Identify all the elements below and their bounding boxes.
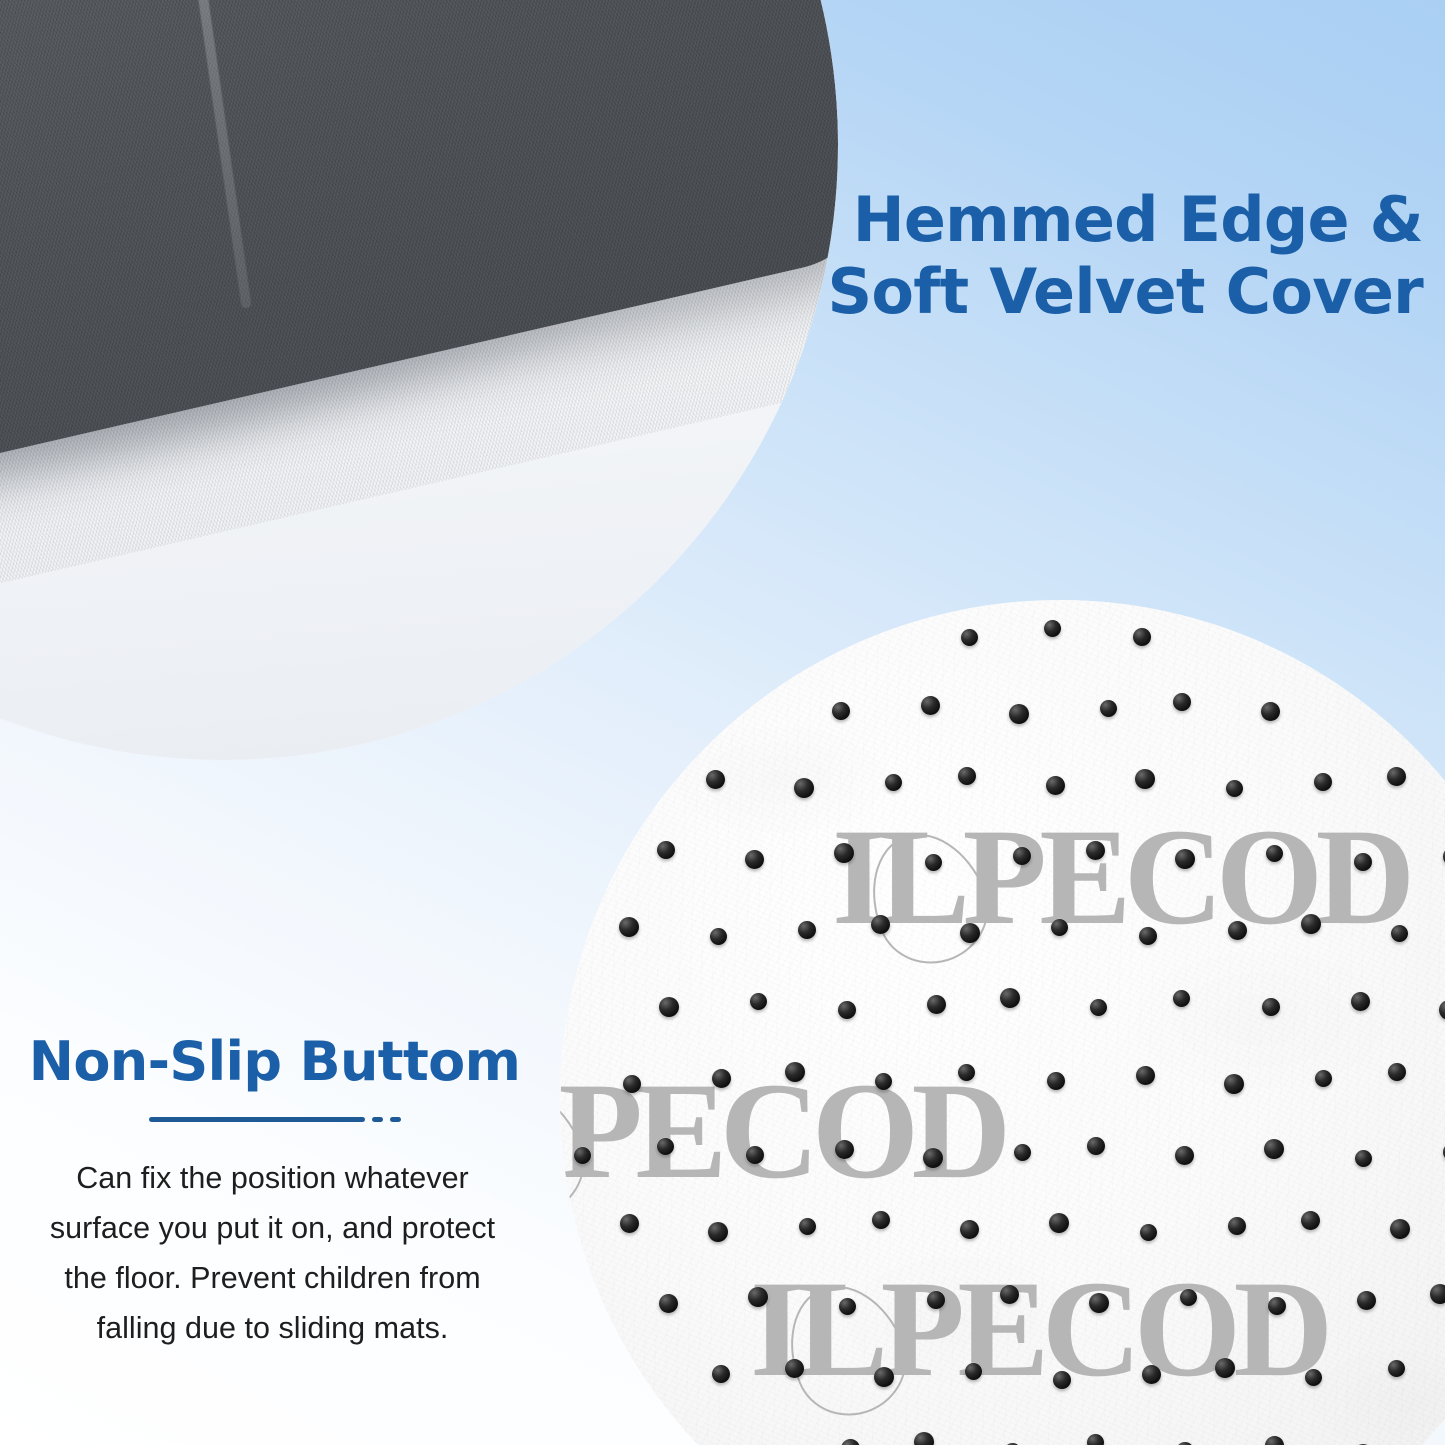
- grip-dot: [1301, 1211, 1320, 1230]
- divider-line: [149, 1117, 365, 1122]
- grip-dot: [1000, 1285, 1019, 1304]
- grip-dot: [1215, 1358, 1235, 1378]
- grip-dot: [1228, 921, 1247, 940]
- grip-dot: [914, 1432, 934, 1445]
- grip-dot: [1226, 780, 1243, 797]
- grip-dot: [1046, 776, 1065, 795]
- grip-dot: [1087, 1434, 1104, 1445]
- grip-dot: [1305, 1369, 1322, 1386]
- grip-dot: [1391, 925, 1408, 942]
- headline-line-1: Hemmed Edge &: [827, 184, 1423, 256]
- grip-dot: [574, 1147, 591, 1164]
- grip-dot: [874, 1367, 894, 1387]
- grip-dot: [965, 1363, 982, 1380]
- grip-dot: [799, 1218, 816, 1235]
- grip-dot: [1357, 1291, 1376, 1310]
- title-divider: [4, 1117, 545, 1122]
- nonslip-bottom-photo: ILPECOD ILPECOD ILPECOD: [560, 600, 1445, 1445]
- grip-dot: [1265, 1436, 1284, 1445]
- grip-dot: [1009, 704, 1029, 724]
- grip-dot: [659, 1294, 678, 1313]
- grip-dot: [1354, 853, 1372, 871]
- grip-dot: [785, 1062, 805, 1082]
- grip-dot: [1139, 927, 1157, 945]
- grip-dot: [871, 915, 890, 934]
- grip-dot: [1090, 999, 1107, 1016]
- grip-dot: [1268, 1297, 1286, 1315]
- grip-dot: [1044, 620, 1061, 637]
- grip-dot: [925, 854, 942, 871]
- grip-dot: [708, 1222, 728, 1242]
- grip-dot: [1351, 992, 1370, 1011]
- divider-dash: [372, 1117, 383, 1122]
- grip-dot: [706, 770, 725, 789]
- grip-dot: [1262, 998, 1280, 1016]
- grip-dot: [1087, 1137, 1105, 1155]
- grip-dot: [1261, 702, 1280, 721]
- grip-dot: [961, 629, 978, 646]
- grip-dot: [1142, 1365, 1161, 1384]
- grip-dot: [745, 850, 764, 869]
- headline: Hemmed Edge & Soft Velvet Cover: [827, 184, 1423, 328]
- grip-dot: [838, 1001, 856, 1019]
- grip-dot: [1100, 700, 1117, 717]
- grip-dot: [1264, 1139, 1284, 1159]
- grip-dot: [1049, 1213, 1069, 1233]
- grip-dot: [1000, 988, 1020, 1008]
- grip-dot: [885, 774, 902, 791]
- grip-dot: [1051, 919, 1068, 936]
- grip-dot: [1047, 1072, 1065, 1090]
- grip-dot: [712, 1069, 731, 1088]
- grip-dot: [835, 1140, 854, 1159]
- grip-dot: [1388, 1360, 1405, 1377]
- grip-dot: [798, 921, 816, 939]
- grip-dot: [1355, 1150, 1372, 1167]
- grip-dot-grid: [560, 600, 1445, 1445]
- grip-dot: [794, 778, 814, 798]
- grip-dot: [1140, 1224, 1157, 1241]
- grip-dot: [923, 1148, 943, 1168]
- grip-dot: [1014, 1144, 1031, 1161]
- grip-dot: [1136, 1066, 1155, 1085]
- grip-dot: [872, 1211, 890, 1229]
- nonslip-feature-block: Non-Slip Buttom Can fix the position wha…: [0, 1032, 545, 1353]
- grip-dot: [960, 1220, 979, 1239]
- grip-dot: [1053, 1371, 1071, 1389]
- grip-dot: [712, 1365, 730, 1383]
- grip-dot: [875, 1073, 892, 1090]
- divider-dash: [390, 1117, 401, 1122]
- grip-dot: [839, 1298, 856, 1315]
- nonslip-title: Non-Slip Buttom: [4, 1032, 545, 1091]
- grip-dot: [841, 1439, 860, 1445]
- grip-dot: [748, 1287, 768, 1307]
- grip-dot: [710, 928, 727, 945]
- grip-dot: [1086, 841, 1105, 860]
- grip-dot: [927, 1291, 945, 1309]
- grip-dot: [619, 917, 639, 937]
- grip-dot: [657, 1138, 674, 1155]
- grip-dot: [1228, 1217, 1246, 1235]
- grip-dot: [1390, 1219, 1410, 1239]
- grip-dot: [1135, 769, 1155, 789]
- grip-dot: [657, 841, 675, 859]
- grip-dot: [1089, 1293, 1109, 1313]
- headline-line-2: Soft Velvet Cover: [827, 256, 1423, 328]
- grip-dot: [1430, 1284, 1445, 1304]
- grip-dot: [785, 1359, 804, 1378]
- nonslip-fabric: ILPECOD ILPECOD ILPECOD: [560, 600, 1445, 1445]
- grip-dot: [1224, 1074, 1244, 1094]
- grip-dot: [1175, 849, 1195, 869]
- grip-dot: [1439, 1000, 1445, 1020]
- grip-dot: [927, 995, 946, 1014]
- grip-dot: [659, 997, 679, 1017]
- grip-dot: [958, 1064, 975, 1081]
- grip-dot: [834, 843, 854, 863]
- grip-dot: [1013, 847, 1031, 865]
- grip-dot: [1301, 914, 1321, 934]
- grip-dot: [1266, 845, 1283, 862]
- grip-dot: [960, 923, 980, 943]
- grip-dot: [1387, 767, 1406, 786]
- grip-dot: [958, 767, 976, 785]
- grip-dot: [620, 1214, 639, 1233]
- grip-dot: [1173, 693, 1191, 711]
- nonslip-description: Can fix the position whatever surface yo…: [28, 1154, 517, 1353]
- grip-dot: [832, 702, 850, 720]
- grip-dot: [1315, 1070, 1332, 1087]
- grip-dot: [746, 1146, 764, 1164]
- grip-dot: [623, 1075, 641, 1093]
- product-feature-graphic: ILPECOD ILPECOD ILPECOD Hemmed Edge & So…: [0, 0, 1445, 1445]
- grip-dot: [1314, 773, 1332, 791]
- grip-dot: [921, 696, 940, 715]
- grip-dot: [1133, 628, 1151, 646]
- grip-dot: [1180, 1289, 1197, 1306]
- grip-dot: [750, 993, 767, 1010]
- grip-dot: [1173, 990, 1190, 1007]
- grip-dot: [1175, 1146, 1194, 1165]
- grip-dot: [1388, 1063, 1406, 1081]
